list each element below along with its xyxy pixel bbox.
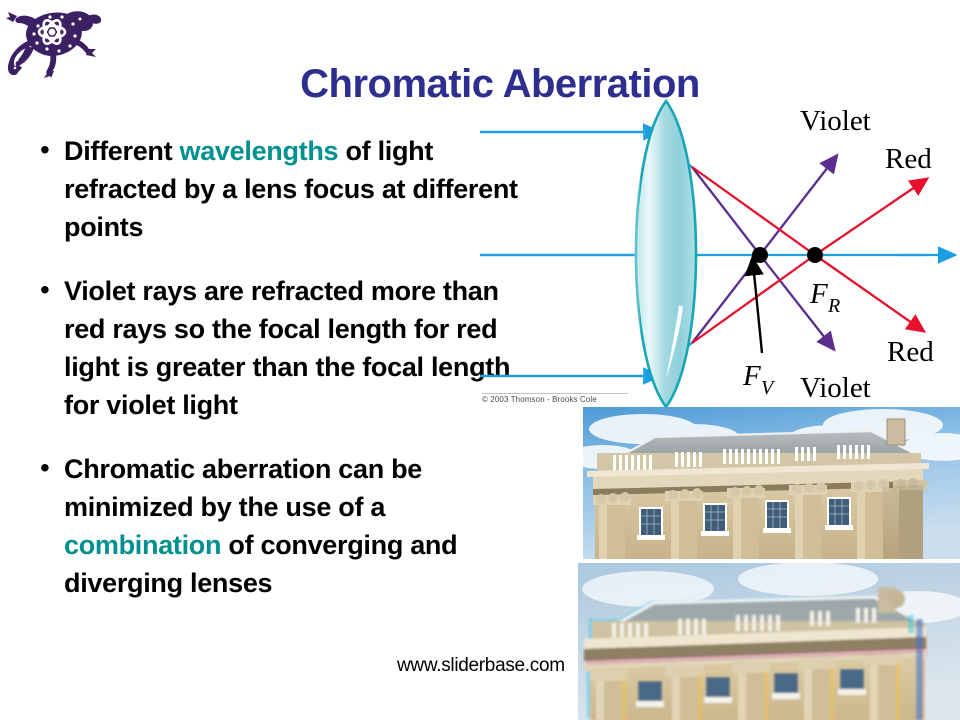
label-red-bottom: Red	[887, 336, 934, 368]
bullet-marker-icon: •	[34, 450, 64, 602]
bullet-list: • Different wavelengths of light refract…	[34, 132, 534, 628]
bullet-1-seg-0: Different	[64, 136, 180, 166]
diagram-caption-rule	[482, 393, 628, 394]
list-item: • Violet rays are refracted more than re…	[34, 272, 534, 424]
svg-text:F: F	[809, 278, 828, 310]
list-item: • Chromatic aberration can be minimized …	[34, 450, 534, 602]
photo-building-sharp	[583, 407, 960, 559]
label-violet-top: Violet	[800, 105, 871, 137]
svg-text:V: V	[761, 377, 776, 399]
bullet-3-seg-0: Chromatic aberration can be minimized by…	[64, 454, 422, 522]
svg-text:R: R	[827, 295, 840, 317]
label-violet-bottom: Violet	[800, 372, 871, 404]
focal-point-red	[807, 247, 823, 263]
diagram-caption: © 2003 Thomson - Brooks Cole	[482, 395, 597, 404]
focal-point-violet	[752, 247, 768, 263]
bullet-text-1: Different wavelengths of light refracted…	[64, 132, 534, 246]
label-focal-violet: F V	[742, 360, 776, 399]
converging-lens	[634, 101, 696, 407]
bullet-text-2: Violet rays are refracted more than red …	[64, 272, 534, 424]
bullet-3-highlight: combination	[64, 530, 221, 560]
source-url: www.sliderbase.com	[397, 655, 565, 677]
bullet-text-3: Chromatic aberration can be minimized by…	[64, 450, 534, 602]
list-item: • Different wavelengths of light refract…	[34, 132, 534, 246]
incident-rays	[480, 132, 940, 376]
bullet-marker-icon: •	[34, 132, 64, 246]
photo-building-aberrated	[578, 563, 960, 720]
label-focal-red: F R	[809, 278, 840, 317]
label-red-top: Red	[885, 143, 932, 175]
bullet-marker-icon: •	[34, 272, 64, 424]
bullet-1-highlight: wavelengths	[180, 136, 339, 166]
svg-text:F: F	[742, 360, 761, 392]
chromatic-aberration-diagram: Violet Red Red Violet F V F R	[470, 95, 960, 415]
focal-violet-pointer	[754, 273, 762, 353]
bullet-2-seg-0: Violet rays are refracted more than red …	[64, 276, 510, 420]
